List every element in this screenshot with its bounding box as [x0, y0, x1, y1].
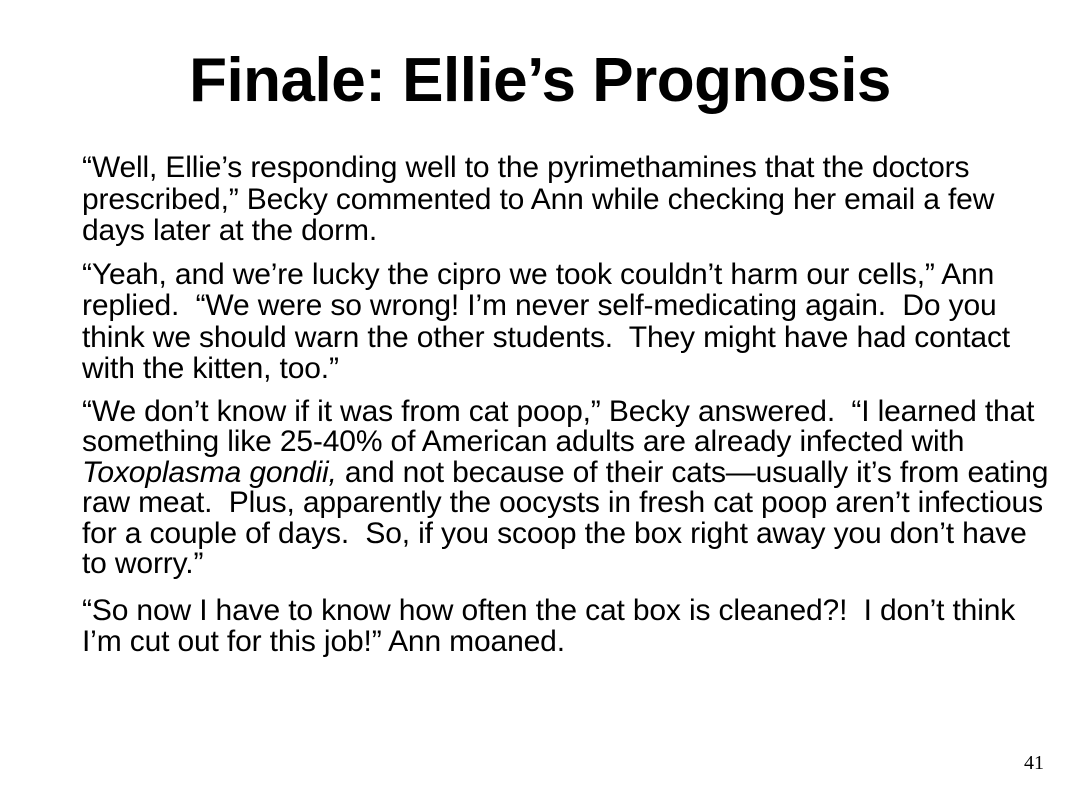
slide-canvas: Finale: Ellie’s Prognosis “Well, Ellie’s…	[0, 0, 1080, 810]
body-paragraph-2: “Yeah, and we’re lucky the cipro we took…	[82, 259, 1054, 385]
species-name-toxoplasma-gondii: Toxoplasma gondii,	[82, 456, 337, 489]
slide-body: “Well, Ellie’s responding well to the py…	[82, 152, 1054, 658]
body-paragraph-4: “So now I have to know how often the cat…	[82, 595, 1054, 658]
page-number: 41	[1024, 752, 1044, 774]
paragraph-3-text-before-species: “We don’t know if it was from cat poop,”…	[82, 395, 1042, 459]
body-paragraph-3: “We don’t know if it was from cat poop,”…	[82, 397, 1054, 580]
body-paragraph-1: “Well, Ellie’s responding well to the py…	[82, 152, 1054, 247]
page-title: Finale: Ellie’s Prognosis	[0, 48, 1080, 114]
